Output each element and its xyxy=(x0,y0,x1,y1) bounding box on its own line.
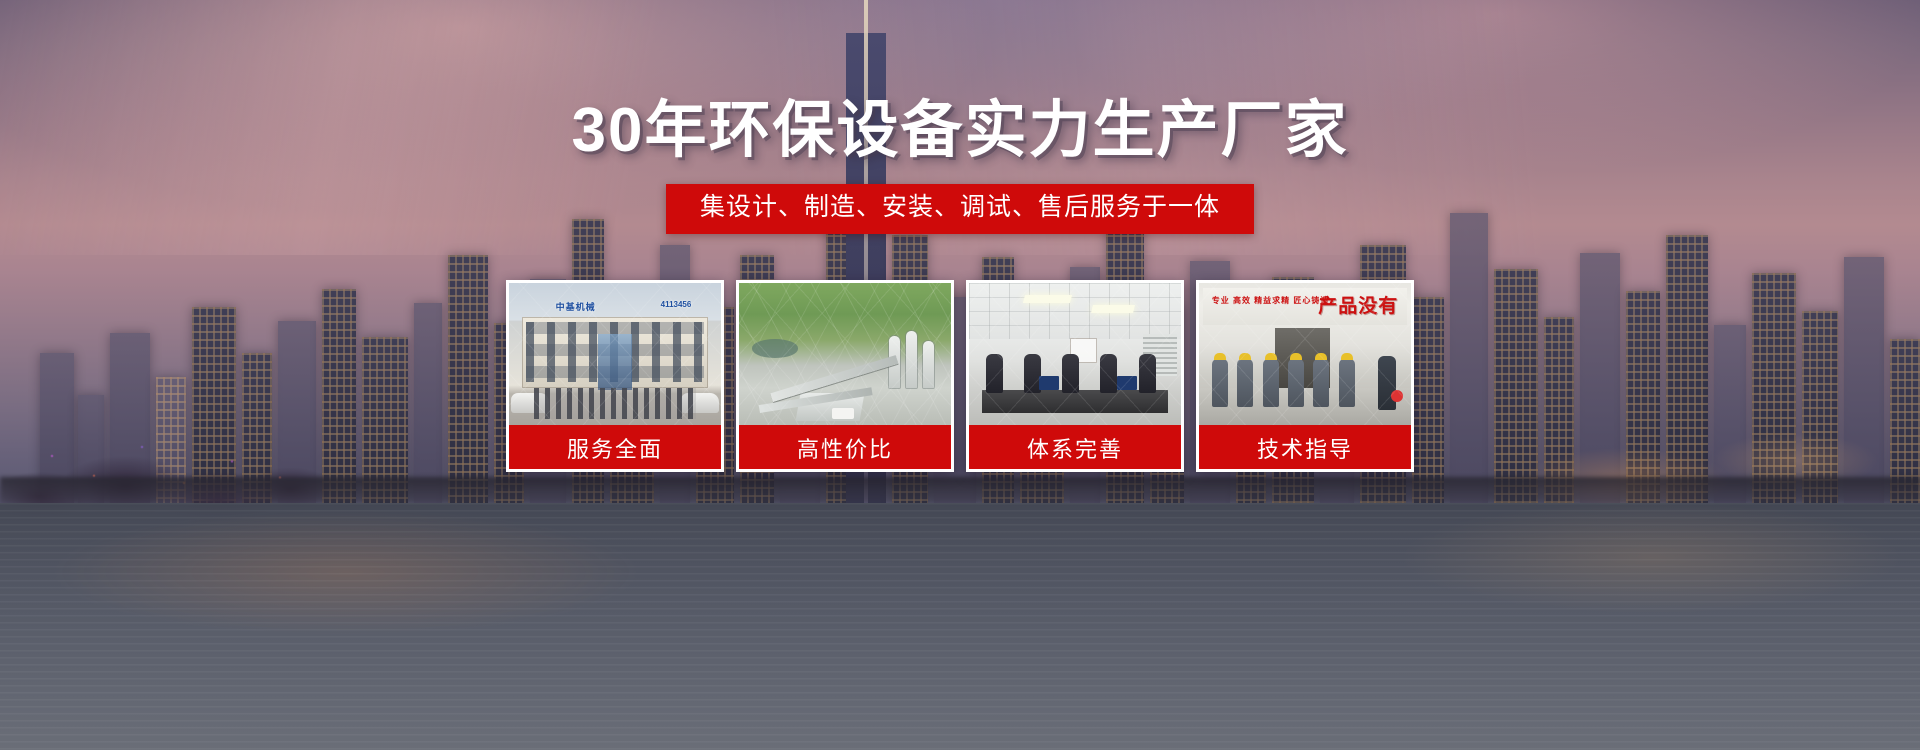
banner-content: 30年环保设备实力生产厂家 集设计、制造、安装、调试、售后服务于一体 中基机械 … xyxy=(0,0,1920,750)
company-office-building-photo: 中基机械 4113456 xyxy=(509,283,721,427)
feature-card-caption: 体系完善 xyxy=(969,427,1181,469)
workshop-workers-photo: 产品没有 专业 高效 精益求精 匠心铸造 xyxy=(1199,283,1411,427)
feature-card-caption: 高性价比 xyxy=(739,427,951,469)
ceiling-light xyxy=(1091,305,1135,313)
building-sign-text: 中基机械 xyxy=(556,300,596,313)
workshop-worker xyxy=(1263,359,1279,407)
feature-card[interactable]: 中基机械 4113456 服务全面 xyxy=(506,280,724,472)
staff-row xyxy=(534,388,695,419)
red-helmet xyxy=(1391,390,1403,402)
aerial-industrial-plant-photo xyxy=(739,283,951,427)
computer-monitor xyxy=(1117,376,1137,390)
office-worker xyxy=(986,354,1003,394)
feature-card-caption: 技术指导 xyxy=(1199,427,1411,469)
workshop-supervisor xyxy=(1378,356,1396,410)
workshop-worker xyxy=(1339,359,1355,407)
plant-truck xyxy=(832,408,854,419)
ceiling-light xyxy=(1023,295,1072,303)
computer-monitor xyxy=(1039,376,1059,390)
office-ceiling xyxy=(969,283,1181,340)
workshop-worker xyxy=(1288,359,1304,407)
feature-card-list: 中基机械 4113456 服务全面 xyxy=(506,280,1414,472)
aerial-pond xyxy=(752,339,799,357)
feature-card[interactable]: 高性价比 xyxy=(736,280,954,472)
building-entrance xyxy=(598,334,632,391)
office-interior-staff-photo xyxy=(969,283,1181,427)
workshop-slogan-small: 专业 高效 精益求精 匠心铸造 xyxy=(1212,295,1330,307)
office-worker xyxy=(1100,354,1117,394)
workshop-slogan-large: 产品没有 xyxy=(1318,291,1398,318)
feature-card[interactable]: 产品没有 专业 高效 精益求精 匠心铸造 技术指导 xyxy=(1196,280,1414,472)
workshop-worker xyxy=(1212,359,1228,407)
office-worker xyxy=(1139,354,1156,394)
feature-card-caption: 服务全面 xyxy=(509,427,721,469)
storage-silo xyxy=(906,331,917,388)
office-worker xyxy=(1062,354,1079,394)
hero-banner: 30年环保设备实力生产厂家 集设计、制造、安装、调试、售后服务于一体 中基机械 … xyxy=(0,0,1920,750)
workshop-worker xyxy=(1313,359,1329,407)
workshop-worker xyxy=(1237,359,1253,407)
office-desk xyxy=(982,390,1169,413)
banner-headline: 30年环保设备实力生产厂家 xyxy=(572,100,1349,162)
banner-subtitle-bar: 集设计、制造、安装、调试、售后服务于一体 xyxy=(666,184,1254,234)
building-phone-text: 4113456 xyxy=(661,300,692,309)
feature-card[interactable]: 体系完善 xyxy=(966,280,1184,472)
storage-silo xyxy=(923,341,934,388)
